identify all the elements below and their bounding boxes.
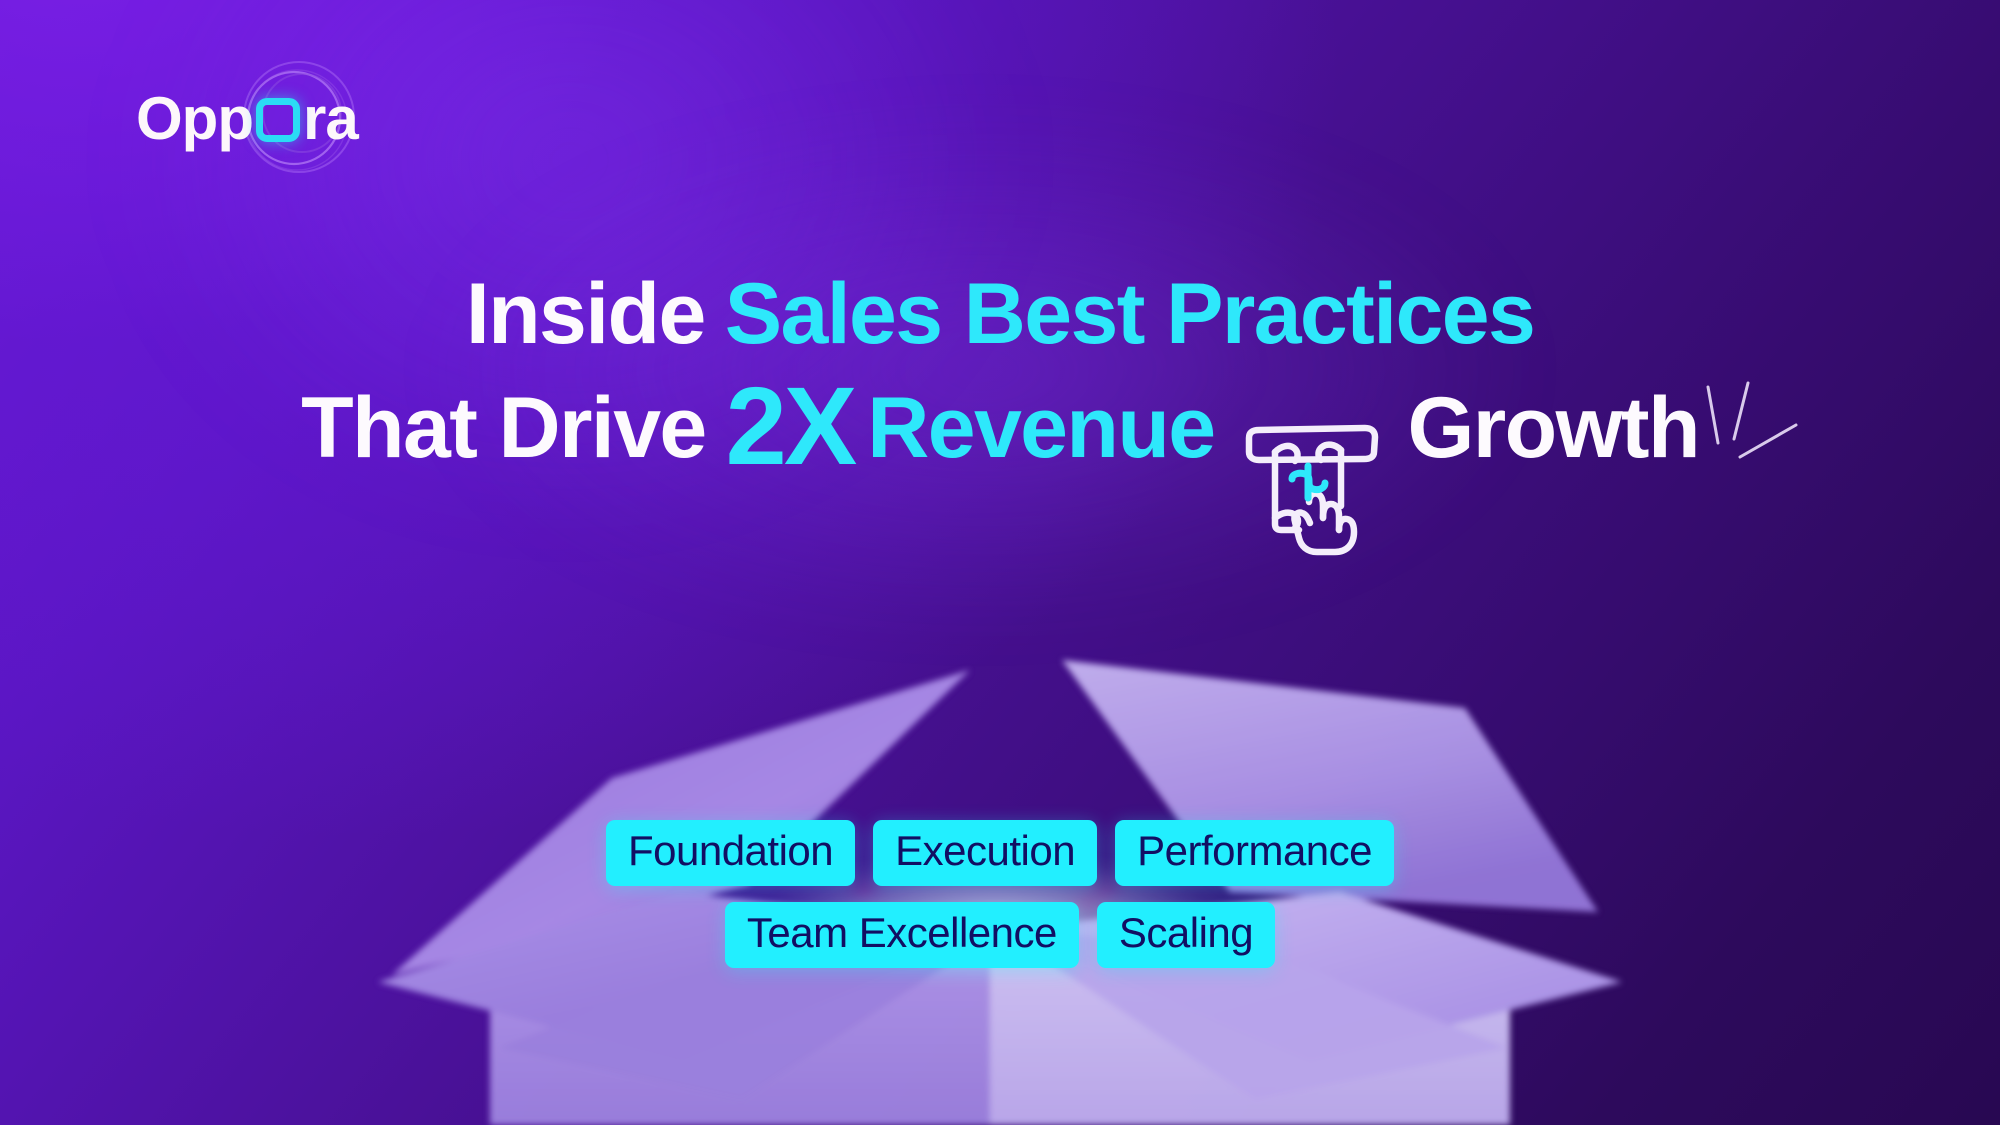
- headline-word-growth: Growth: [1408, 380, 1699, 476]
- tag-execution[interactable]: Execution: [873, 820, 1097, 886]
- logo-wordmark: Opp ra: [136, 89, 358, 149]
- headline-line-2: That Drive2XRevenue: [0, 361, 2000, 528]
- headline-word-that-drive: That Drive: [301, 380, 706, 476]
- headline-word-inside: Inside: [466, 266, 705, 362]
- page-title: InsideSales Best Practices That Drive2XR…: [0, 268, 2000, 528]
- headline-line-1: InsideSales Best Practices: [0, 268, 2000, 361]
- square-o-icon: [256, 98, 300, 142]
- logo-text-after: ra: [303, 89, 358, 149]
- logo-text-before: Opp: [136, 89, 253, 149]
- tag-team-excellence[interactable]: Team Excellence: [725, 902, 1079, 968]
- headline-word-sales-best-practices: Sales Best Practices: [725, 266, 1534, 362]
- tag-row-1: Foundation Execution Performance: [606, 820, 1394, 886]
- topic-tag-group: Foundation Execution Performance Team Ex…: [0, 820, 2000, 968]
- tag-scaling[interactable]: Scaling: [1097, 902, 1275, 968]
- tag-foundation[interactable]: Foundation: [606, 820, 855, 886]
- headline-word-revenue: Revenue: [867, 380, 1214, 476]
- headline-word-2x: 2X: [726, 365, 855, 488]
- oppora-logo[interactable]: Opp ra: [136, 84, 358, 154]
- atm-cash-withdrawal-icon: [1237, 406, 1387, 556]
- tag-performance[interactable]: Performance: [1115, 820, 1394, 886]
- slide-canvas: Opp ra InsideSales Best Practices That D…: [0, 0, 2000, 1125]
- tag-row-2: Team Excellence Scaling: [725, 902, 1275, 968]
